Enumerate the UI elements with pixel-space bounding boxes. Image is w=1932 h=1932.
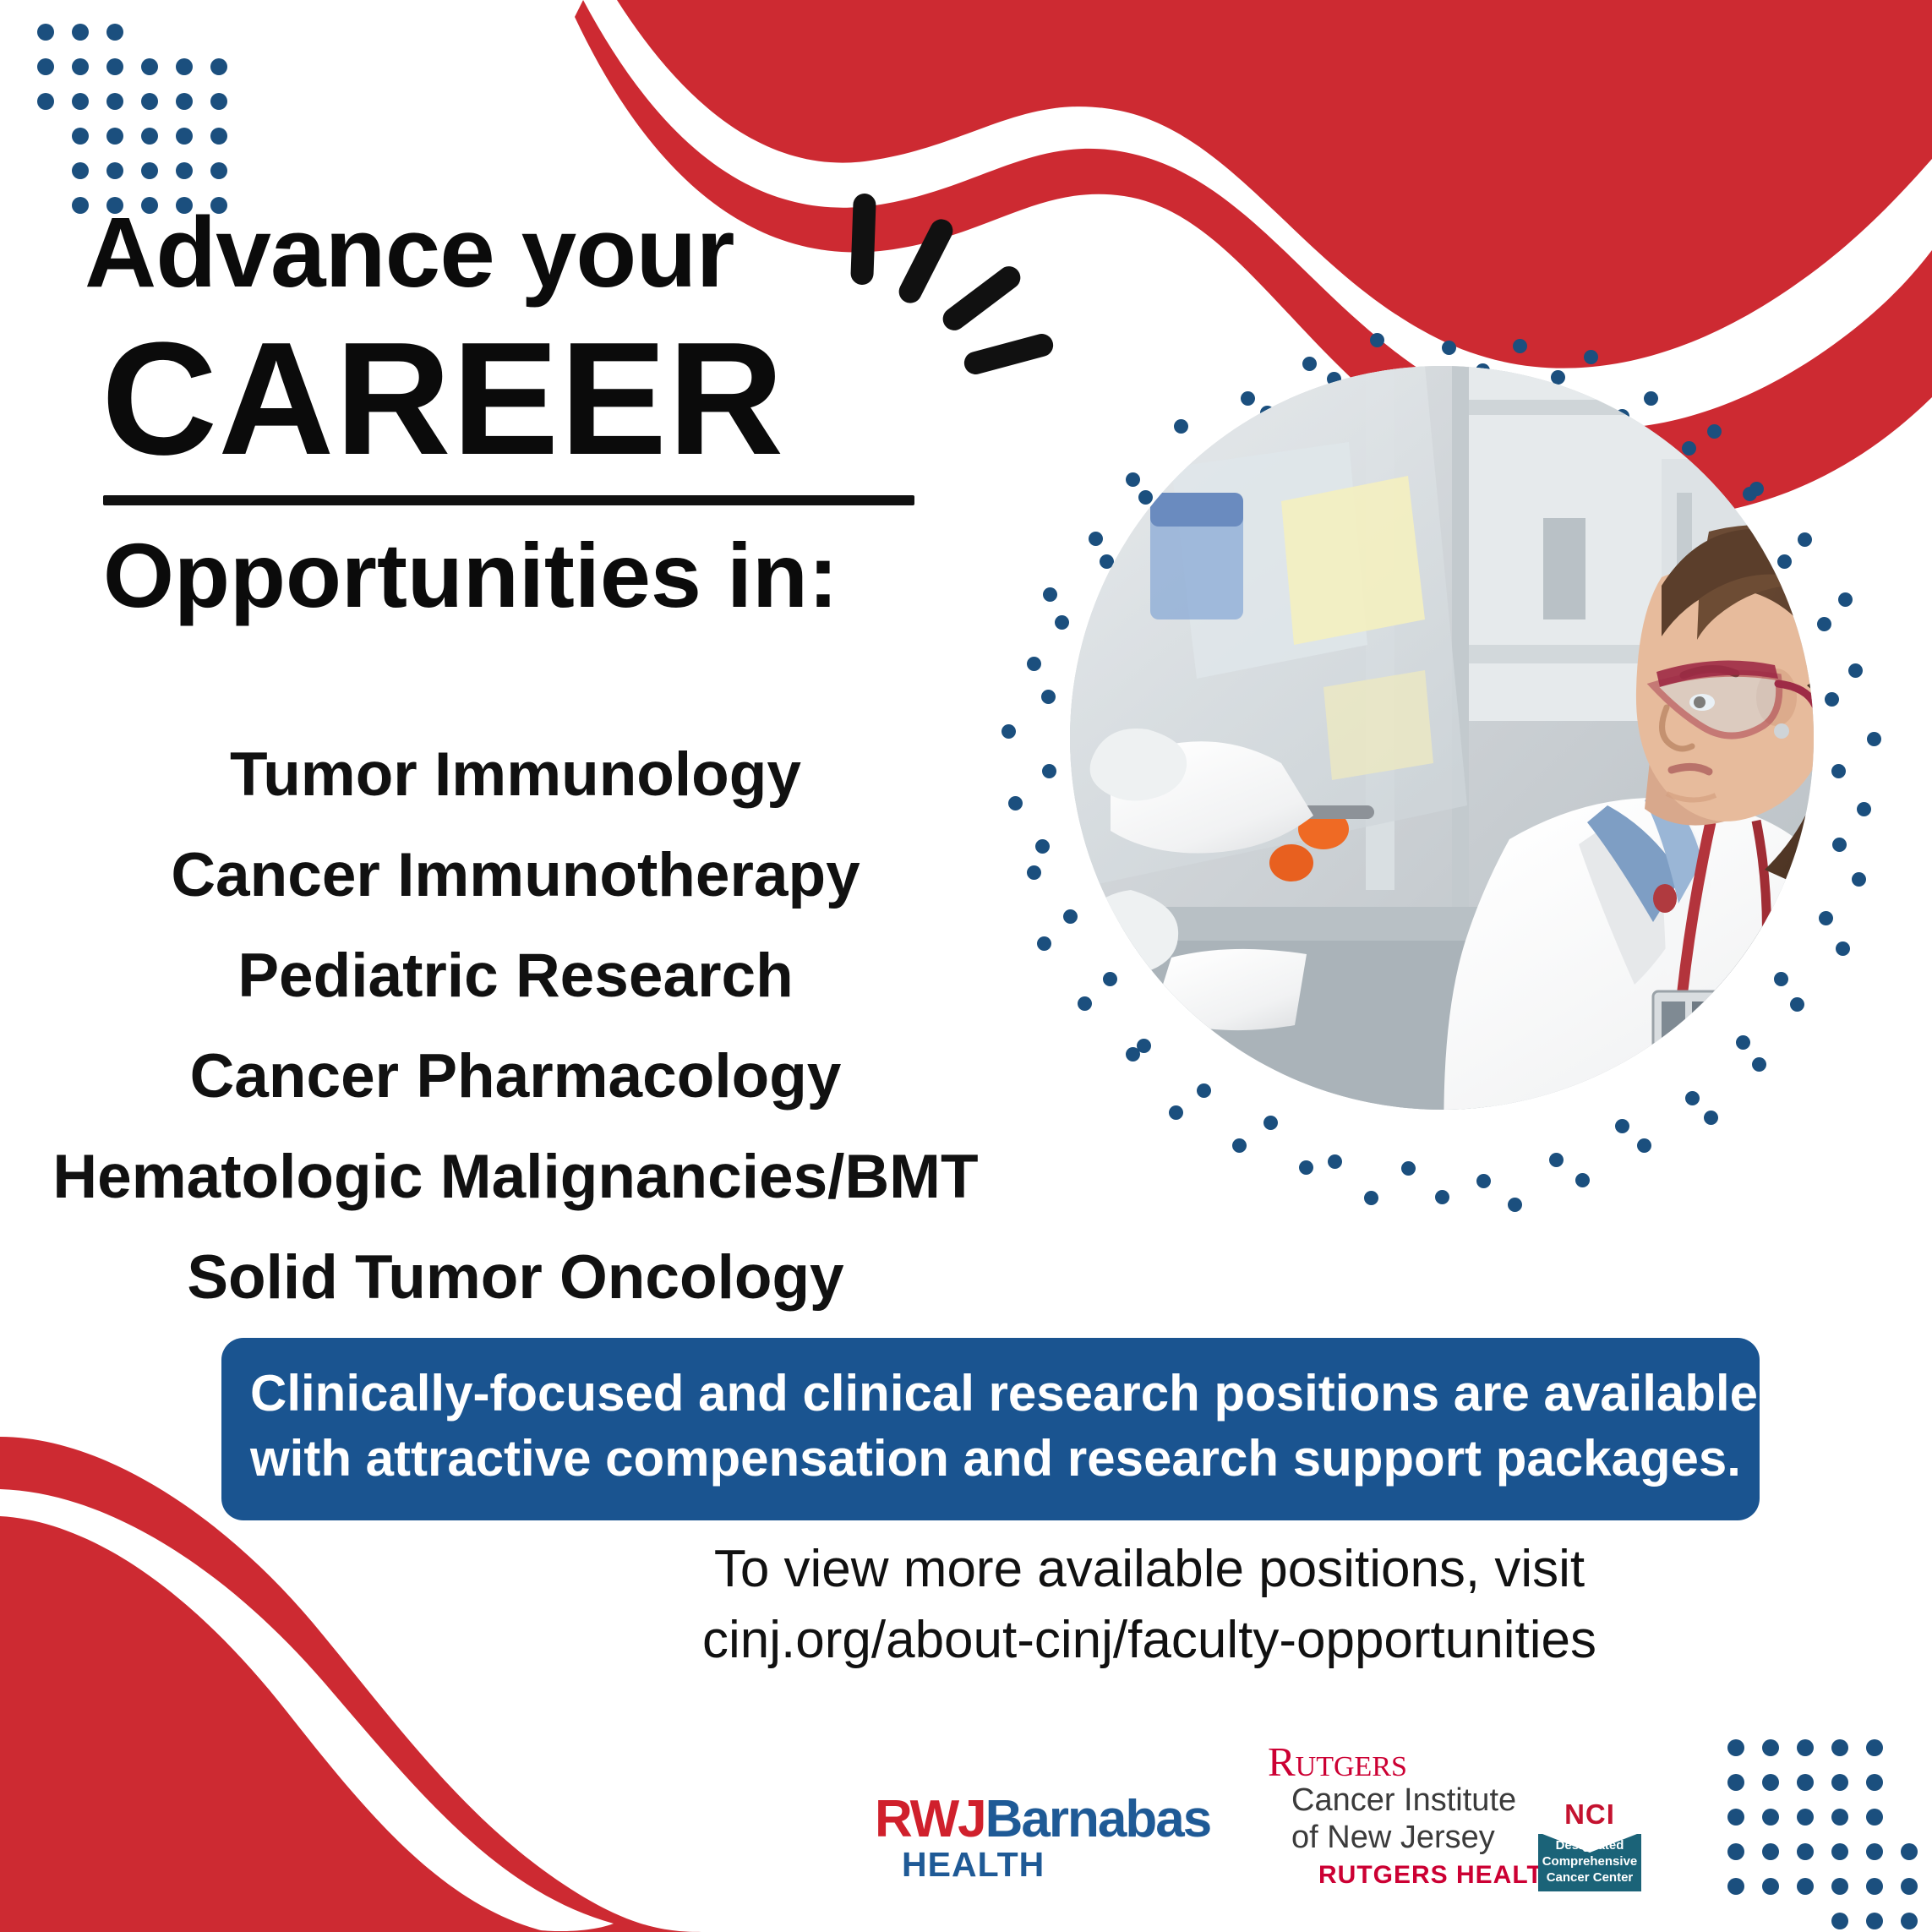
ring-dot (1241, 391, 1255, 406)
poster-canvas: Advance your CAREER Opportunities in: Tu… (0, 0, 1932, 1932)
rutgers-cinj-logo: Rutgers Cancer Institute of New Jersey R… (1268, 1741, 1521, 1890)
dot (37, 93, 72, 128)
list-item: Cancer Immunotherapy (34, 844, 997, 906)
dot (1866, 1913, 1901, 1932)
rwj-health-subtitle: HEALTH (902, 1847, 1221, 1882)
dot (72, 162, 106, 197)
dot-empty (37, 162, 72, 197)
highlight-banner: Clinically-focused and clinical research… (221, 1338, 1760, 1520)
dot (1797, 1809, 1831, 1843)
opportunity-list: Tumor Immunology Cancer Immunotherapy Pe… (34, 744, 997, 1308)
ring-dot (1513, 339, 1527, 353)
list-item: Solid Tumor Oncology (34, 1247, 997, 1308)
ring-dot (1035, 839, 1050, 854)
dot (106, 58, 141, 93)
sparkle-ray-3 (938, 262, 1025, 336)
dot (1831, 1878, 1866, 1913)
dot (1866, 1878, 1901, 1913)
nci-acronym: NCI (1538, 1798, 1641, 1831)
dot-empty (210, 24, 245, 58)
nci-line-1: Designated (1538, 1837, 1641, 1853)
ring-dot (1401, 1161, 1416, 1176)
dot (141, 58, 176, 93)
ring-dot (1008, 796, 1023, 810)
ring-dot (1037, 936, 1051, 951)
nci-badge-text: Designated Comprehensive Cancer Center (1538, 1837, 1641, 1886)
dot (141, 128, 176, 162)
ring-dot (1615, 1119, 1629, 1133)
dot (1797, 1774, 1831, 1809)
call-to-action: To view more available positions, visit … (507, 1534, 1792, 1675)
dot (210, 93, 245, 128)
dot (1901, 1913, 1932, 1932)
dot (176, 128, 210, 162)
ring-dot (1831, 764, 1846, 778)
ring-dot (1089, 532, 1103, 546)
dot (72, 93, 106, 128)
ring-dot (1749, 482, 1764, 496)
dot-empty (1797, 1913, 1831, 1932)
dot (210, 58, 245, 93)
ring-dot (1328, 1154, 1342, 1169)
ring-dot (1867, 732, 1881, 746)
rwj-text: RWJ (875, 1790, 985, 1848)
dot (210, 162, 245, 197)
ring-dot (1736, 1035, 1750, 1050)
ring-dot (1817, 617, 1831, 631)
dot (72, 58, 106, 93)
dot (1727, 1774, 1762, 1809)
ring-dot (1777, 554, 1792, 569)
ring-dot (1197, 1083, 1211, 1098)
ring-dot (1825, 692, 1839, 707)
ring-dot (1549, 1153, 1564, 1167)
dot-empty (176, 24, 210, 58)
dot (176, 58, 210, 93)
headline-divider-rule (103, 495, 914, 505)
dot-empty (37, 197, 72, 232)
ring-dot (1041, 690, 1056, 704)
logo-row: RWJBarnabas HEALTH Rutgers Cancer Instit… (862, 1741, 1707, 1910)
dot-empty (1901, 1774, 1932, 1809)
list-item: Hematologic Malignancies/BMT (34, 1146, 997, 1208)
ring-dot (1078, 996, 1092, 1011)
rutgers-health-tagline: RUTGERS HEALTH (1318, 1861, 1521, 1890)
dot (1727, 1878, 1762, 1913)
dot-empty (1901, 1739, 1932, 1774)
dot (1762, 1774, 1797, 1809)
dot (1797, 1843, 1831, 1878)
banner-line-2: with attractive compensation and researc… (250, 1427, 1731, 1492)
dot (72, 128, 106, 162)
dot (1762, 1878, 1797, 1913)
dot (141, 93, 176, 128)
ring-dot (1838, 592, 1853, 607)
dot (1727, 1843, 1762, 1878)
ring-dot (1637, 1138, 1651, 1153)
researcher-photo (1070, 366, 1814, 1110)
ring-dot (1848, 663, 1863, 678)
ring-dot (1476, 1174, 1491, 1188)
ring-dot (1752, 1057, 1766, 1072)
ring-dot (1364, 1191, 1378, 1205)
cinj-line-1: Cancer Institute (1291, 1782, 1521, 1820)
ring-dot (1043, 587, 1057, 602)
ring-dot (1027, 657, 1041, 671)
rutgers-wordmark: Rutgers (1268, 1741, 1521, 1782)
dot (210, 128, 245, 162)
nci-line-3: Cancer Center (1538, 1869, 1641, 1886)
ring-dot (1685, 1091, 1700, 1105)
ring-dot (1508, 1198, 1522, 1212)
ring-dot (1774, 972, 1788, 986)
dot (176, 93, 210, 128)
ring-dot (1263, 1116, 1278, 1130)
ring-dot (1063, 909, 1078, 924)
photo-cluster (1006, 334, 1885, 1209)
dot-empty (141, 24, 176, 58)
ring-dot (1819, 911, 1833, 925)
dot (1901, 1843, 1932, 1878)
list-item: Cancer Pharmacology (34, 1045, 997, 1107)
dot (37, 58, 72, 93)
dot (106, 24, 141, 58)
ring-dot (1682, 441, 1696, 456)
dot (1831, 1809, 1866, 1843)
ring-dot (1138, 490, 1153, 505)
ring-dot (1836, 941, 1850, 956)
dot (1831, 1774, 1866, 1809)
dot (1901, 1878, 1932, 1913)
ring-dot (1370, 333, 1384, 347)
dot (37, 24, 72, 58)
ring-dot (1103, 972, 1117, 986)
ring-dot (1575, 1173, 1590, 1187)
sparkle-ray-2 (895, 216, 957, 307)
ring-dot (1232, 1138, 1247, 1153)
dot (1797, 1739, 1831, 1774)
ring-dot (1435, 1190, 1449, 1204)
ring-dot (1027, 865, 1041, 880)
cta-line-1: To view more available positions, visit (507, 1534, 1792, 1605)
ring-dot (1442, 341, 1456, 355)
dot (1727, 1809, 1762, 1843)
dot-grid-bottom-right (1727, 1739, 1932, 1932)
dot (1762, 1843, 1797, 1878)
ring-dot (1584, 350, 1598, 364)
ring-dot (1704, 1111, 1718, 1125)
dot (1866, 1774, 1901, 1809)
ring-dot (1302, 357, 1317, 371)
dot (1727, 1739, 1762, 1774)
dot-empty (1901, 1809, 1932, 1843)
ring-dot (1174, 419, 1188, 434)
rwjbarnabas-wordmark: RWJBarnabas (875, 1793, 1221, 1846)
ring-dot (1852, 872, 1866, 887)
dot (1831, 1913, 1866, 1932)
dot (106, 128, 141, 162)
dot-empty (1762, 1913, 1797, 1932)
ring-dot (1299, 1160, 1313, 1175)
ring-dot (1055, 615, 1069, 630)
ring-dot (1798, 532, 1812, 547)
dot (141, 162, 176, 197)
cta-url[interactable]: cinj.org/about-cinj/faculty-opportunitie… (507, 1605, 1792, 1676)
ring-dot (1707, 424, 1722, 439)
cinj-line-2: of New Jersey (1291, 1820, 1521, 1857)
ring-dot (1644, 391, 1658, 406)
ring-dot (1042, 764, 1056, 778)
nci-line-2: Comprehensive (1538, 1853, 1641, 1869)
barnabas-text: Barnabas (985, 1790, 1211, 1848)
dot (1831, 1739, 1866, 1774)
dot (1831, 1843, 1866, 1878)
nci-designated-badge: NCI Designated Comprehensive Cancer Cent… (1538, 1797, 1641, 1891)
list-item: Pediatric Research (34, 945, 997, 1007)
dot-empty (1727, 1913, 1762, 1932)
dot (176, 162, 210, 197)
banner-line-1: Clinically-focused and clinical research… (250, 1362, 1731, 1427)
ring-dot (1001, 724, 1016, 739)
list-item: Tumor Immunology (34, 744, 997, 805)
ring-dot (1126, 472, 1140, 487)
dot (1866, 1739, 1901, 1774)
dot (72, 24, 106, 58)
ring-dot (1832, 838, 1847, 852)
rwjbarnabas-health-logo: RWJBarnabas HEALTH (875, 1793, 1221, 1882)
ring-dot (1169, 1105, 1183, 1120)
ring-dot (1790, 997, 1804, 1012)
ring-dot (1857, 802, 1871, 816)
headline-opportunities-in: Opportunities in: (103, 527, 997, 623)
dot (1762, 1739, 1797, 1774)
dot (1866, 1843, 1901, 1878)
dot (1866, 1809, 1901, 1843)
ring-dot (1126, 1047, 1140, 1062)
dot (1797, 1878, 1831, 1913)
dot-empty (37, 128, 72, 162)
dot (1762, 1809, 1797, 1843)
dot (106, 93, 141, 128)
dot (106, 162, 141, 197)
sparkle-ray-1 (850, 194, 876, 286)
